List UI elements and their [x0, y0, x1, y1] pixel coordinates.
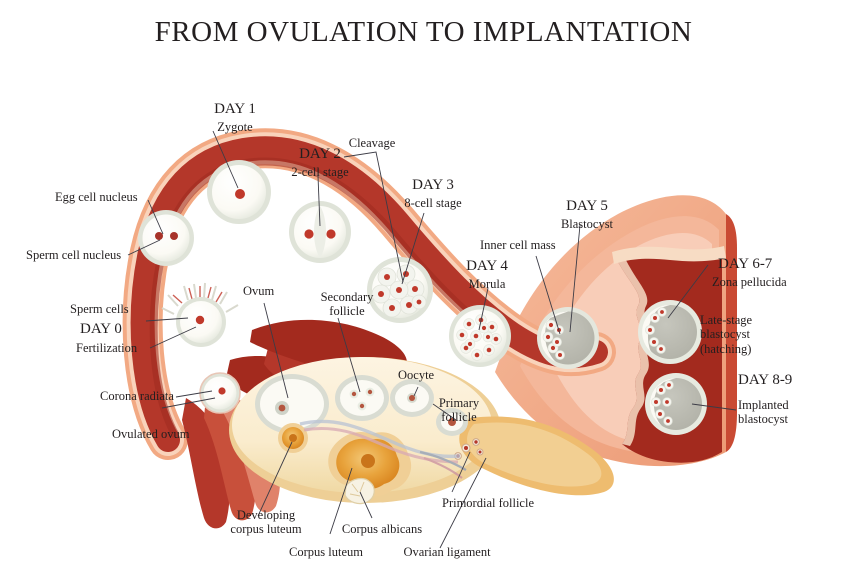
- label-oocyte: Oocyte: [398, 368, 434, 382]
- label-inner-cell-mass: Inner cell mass: [480, 238, 556, 252]
- label-day2-sub: 2-cell stage: [262, 165, 378, 179]
- label-primordial-follicle: Primordial follicle: [442, 496, 534, 510]
- label-late-stage-blastocyst: Late-stage blastocyst (hatching): [700, 313, 752, 356]
- label-day1-sub: Zygote: [180, 120, 290, 134]
- label-sperm-cells: Sperm cells: [70, 302, 129, 316]
- label-corpus-luteum: Corpus luteum: [278, 545, 374, 559]
- label-egg-cell-nucleus: Egg cell nucleus: [55, 190, 138, 204]
- corpus-albicans: [345, 479, 374, 504]
- label-primary-follicle: Primary follicle: [424, 396, 494, 425]
- label-day3: DAY 3: [388, 177, 478, 194]
- label-day1: DAY 1: [180, 101, 290, 118]
- label-day4-sub: Morula: [444, 277, 530, 291]
- cell-day8-9-implanted-blastocyst: [645, 373, 707, 435]
- label-day5: DAY 5: [542, 198, 632, 215]
- label-ovum: Ovum: [243, 284, 274, 298]
- label-ovarian-ligament: Ovarian ligament: [392, 545, 502, 559]
- corpus-luteum-developing: [278, 423, 308, 453]
- cell-day4-morula: [449, 305, 511, 367]
- label-developing-corpus-luteum: Developing corpus luteum: [218, 508, 314, 537]
- cell-day6-7-hatching-blastocyst: [638, 300, 702, 364]
- label-day0: DAY 0: [80, 321, 122, 338]
- label-ovulated-ovum: Ovulated ovum: [112, 427, 189, 441]
- label-corpus-albicans: Corpus albicans: [330, 522, 434, 536]
- label-secondary-follicle: Secondary follicle: [308, 290, 386, 319]
- label-corona-radiata: Corona radiata: [100, 389, 174, 403]
- label-cleavage: Cleavage: [330, 136, 414, 150]
- label-day3-sub: 8-cell stage: [381, 196, 485, 210]
- cell-ovulated-ovum: [200, 373, 240, 413]
- label-day6-7-sub: Zona pellucida: [712, 275, 787, 289]
- follicle-secondary: [335, 375, 389, 421]
- cell-egg-sperm-nuclei: [138, 210, 194, 266]
- label-day5-sub: Blastocyst: [538, 217, 636, 231]
- label-day8-9: DAY 8-9: [738, 372, 792, 389]
- label-day4: DAY 4: [444, 258, 530, 275]
- label-sperm-cell-nucleus: Sperm cell nucleus: [26, 248, 121, 262]
- diagram-canvas: FROM OVULATION TO IMPLANTATION: [0, 0, 847, 572]
- cell-day2-2cell: [289, 201, 351, 263]
- label-day8-9-sub: Implanted blastocyst: [738, 398, 789, 427]
- label-day6-7: DAY 6-7: [718, 256, 772, 273]
- label-day0-sub: Fertilization: [76, 341, 137, 355]
- cell-day5-blastocyst: [537, 307, 599, 369]
